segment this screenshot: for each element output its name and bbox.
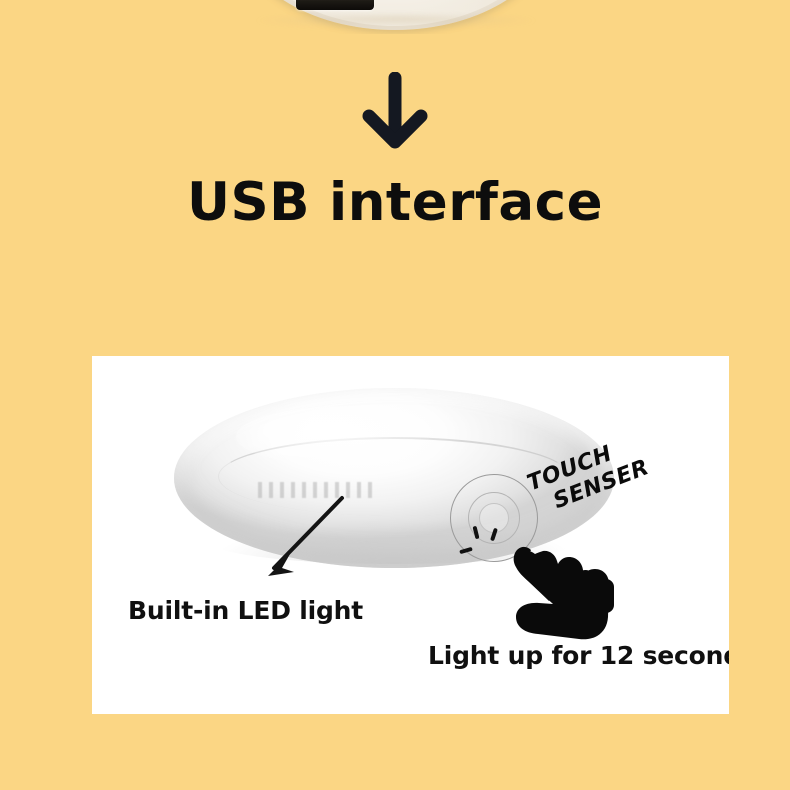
product-infographic-page: { "page": { "background_color": "#fbd684… [0, 0, 790, 790]
top-product-photo [0, 0, 790, 34]
led-oval-highlight [236, 406, 465, 467]
arrow-down-icon [361, 72, 429, 154]
usb-interface-heading: USB interface [0, 172, 790, 233]
usb-port-slot [296, 0, 374, 10]
disc-drop-shadow [250, 16, 542, 28]
caption-light-duration: Light up for 12 seconds [428, 641, 729, 670]
pointing-hand-icon [495, 524, 619, 646]
arrow-diagonal-icon [252, 492, 350, 584]
caption-built-in-led: Built-in LED light [128, 596, 363, 625]
feature-panel: TOUCH SENSER Built-in LED light Light up… [92, 356, 729, 714]
